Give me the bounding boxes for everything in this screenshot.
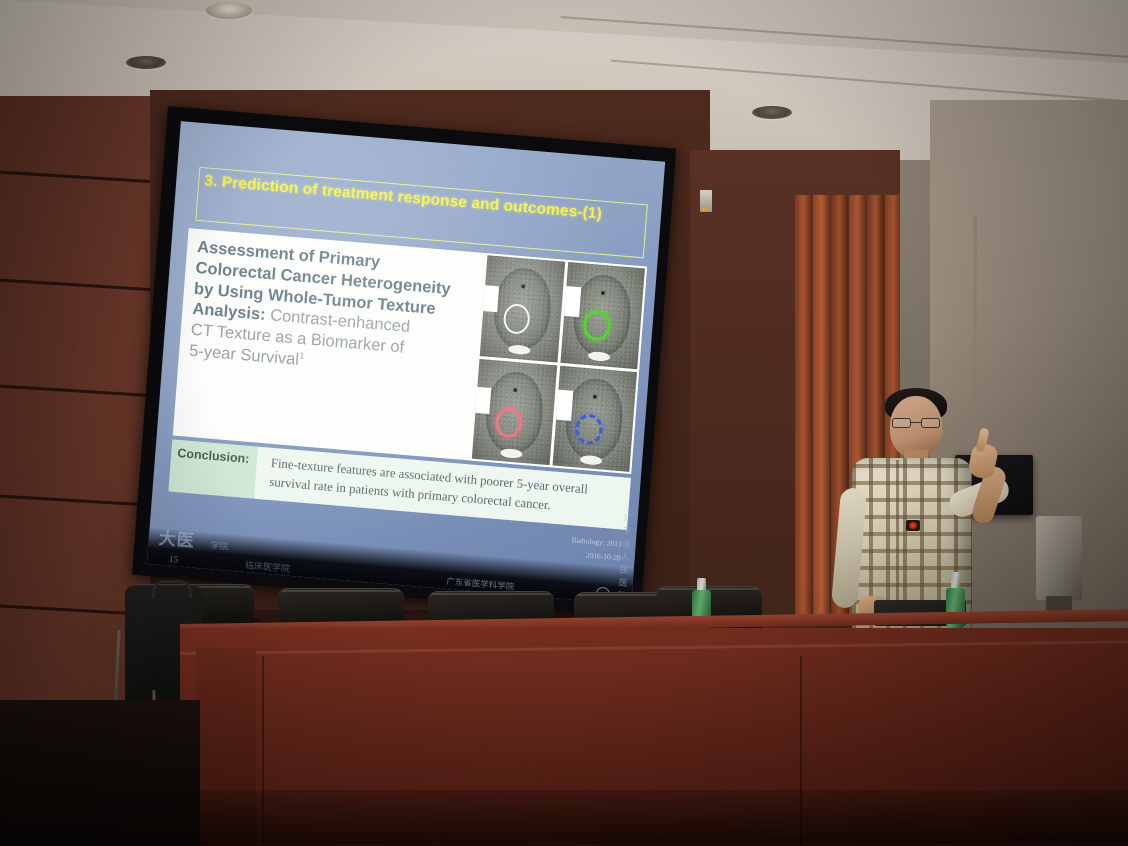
footer-org-line-1: 临床医学院 xyxy=(245,558,291,575)
floor-shadow xyxy=(0,700,200,846)
ct-image-cell xyxy=(480,255,565,362)
paper-title-footnote-marker: 1 xyxy=(299,350,305,360)
shirt-placket xyxy=(896,460,899,620)
downlight-icon xyxy=(752,106,792,119)
ct-image-grid xyxy=(472,253,647,474)
table-front-shadow xyxy=(180,790,1128,846)
paper-title-text: Assessment of Primary Colorectal Cancer … xyxy=(173,228,488,460)
slide-citation: Radiology: 2013 2016-10-20 xyxy=(570,533,622,566)
ct-image-cell xyxy=(472,358,557,465)
presenter-badge xyxy=(906,520,920,531)
presentation-slide: 3. Prediction of treatment response and … xyxy=(147,121,665,604)
desktop-monitor xyxy=(1036,516,1082,600)
slide-page-number: 15 xyxy=(169,554,179,565)
bag-handle xyxy=(152,580,192,598)
lecture-hall-scene: 3. Prediction of treatment response and … xyxy=(0,0,1128,846)
projection-screen: 3. Prediction of treatment response and … xyxy=(132,106,676,617)
conclusion-label: Conclusion: xyxy=(168,440,258,499)
glasses-icon xyxy=(892,418,940,428)
downlight-icon xyxy=(206,2,252,19)
institution-logo: 大医 xyxy=(158,524,196,552)
presenter xyxy=(830,388,1010,638)
ct-image-cell xyxy=(560,262,645,369)
wall-sensor-icon xyxy=(700,190,712,212)
downlight-icon xyxy=(126,56,166,69)
paper-title-card: Assessment of Primary Colorectal Cancer … xyxy=(173,228,647,474)
institution-logo-sub: 学院 xyxy=(210,538,229,552)
ct-image-cell xyxy=(552,365,637,472)
